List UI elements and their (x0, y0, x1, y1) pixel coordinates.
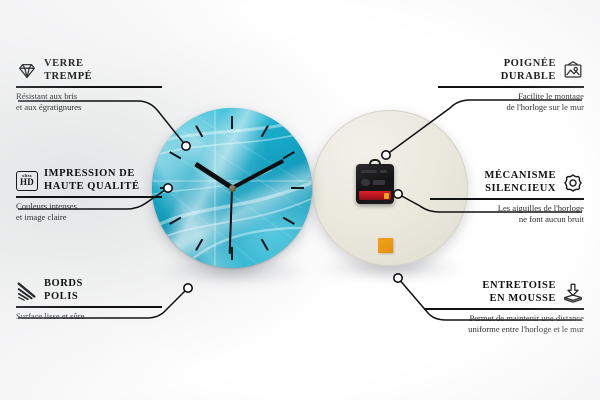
feature-title: BORDS POLIS (44, 278, 83, 303)
feature-rule (438, 86, 584, 88)
gear-icon (562, 172, 584, 194)
feature-head: ENTRETOISE EN MOUSSE (424, 280, 584, 305)
mechanism-hanger (369, 159, 381, 166)
feature-bords-polis: BORDS POLIS Surface lisse et sûre (16, 278, 162, 322)
mechanism-detail (361, 179, 370, 186)
mechanism-detail (380, 170, 387, 173)
diagonal-lines-icon (16, 280, 38, 302)
feature-mecanisme-silencieux: MÉCANISME SILENCIEUX Les aiguilles de l'… (430, 170, 584, 224)
feature-title: MÉCANISME SILENCIEUX (485, 170, 556, 195)
clock-tick (232, 187, 304, 189)
callout-dot-bords (184, 284, 192, 292)
feature-desc: Couleurs intenses et image claire (16, 201, 162, 222)
feature-head: POIGNÉE DURABLE (438, 58, 584, 83)
ultra-hd-icon: ultra HD (16, 171, 38, 191)
infographic-stage: VERRE TREMPÉ Résistant aux bris et aux é… (0, 0, 600, 400)
diamond-icon (16, 60, 38, 82)
hanging-picture-icon (562, 60, 584, 82)
clock-tick (231, 116, 233, 188)
mechanism-detail (373, 180, 385, 185)
clock-mechanism (356, 164, 394, 204)
feature-desc: Permet de maintenir une distance uniform… (424, 313, 584, 334)
feature-rule (430, 198, 584, 200)
feature-desc: Résistant aux bris et aux égratignures (16, 91, 162, 112)
clock-front (152, 108, 312, 268)
feature-verre-trempe: VERRE TREMPÉ Résistant aux bris et aux é… (16, 58, 162, 112)
feature-rule (16, 196, 162, 198)
clock-tick (160, 187, 232, 189)
feature-desc: Surface lisse et sûre (16, 311, 162, 322)
feature-head: ultra HD IMPRESSION DE HAUTE QUALITÉ (16, 168, 162, 193)
feature-impression-haute-qualite: ultra HD IMPRESSION DE HAUTE QUALITÉ Cou… (16, 168, 162, 222)
feature-head: MÉCANISME SILENCIEUX (430, 170, 584, 195)
feature-desc: Facilite le montage de l'horloge sur le … (438, 91, 584, 112)
feature-rule (424, 308, 584, 310)
mechanism-detail (361, 170, 377, 173)
ultra-hd-large-text: HD (20, 178, 34, 187)
feature-rule (16, 86, 162, 88)
feature-rule (16, 306, 162, 308)
feature-title: ENTRETOISE EN MOUSSE (482, 280, 556, 305)
feature-poignee-durable: POIGNÉE DURABLE Facilite le montage de l… (438, 58, 584, 112)
feature-title: POIGNÉE DURABLE (501, 58, 556, 83)
arrow-down-pad-icon (562, 282, 584, 304)
foam-spacer (378, 238, 393, 253)
feature-title: VERRE TREMPÉ (44, 58, 92, 83)
hand-cap (229, 185, 236, 192)
feature-title: IMPRESSION DE HAUTE QUALITÉ (44, 168, 140, 193)
feature-desc: Les aiguilles de l'horloge ne font aucun… (430, 203, 584, 224)
battery (359, 191, 391, 200)
feature-entretoise-en-mousse: ENTRETOISE EN MOUSSE Permet de maintenir… (424, 280, 584, 334)
feature-head: BORDS POLIS (16, 278, 162, 303)
feature-head: VERRE TREMPÉ (16, 58, 162, 83)
